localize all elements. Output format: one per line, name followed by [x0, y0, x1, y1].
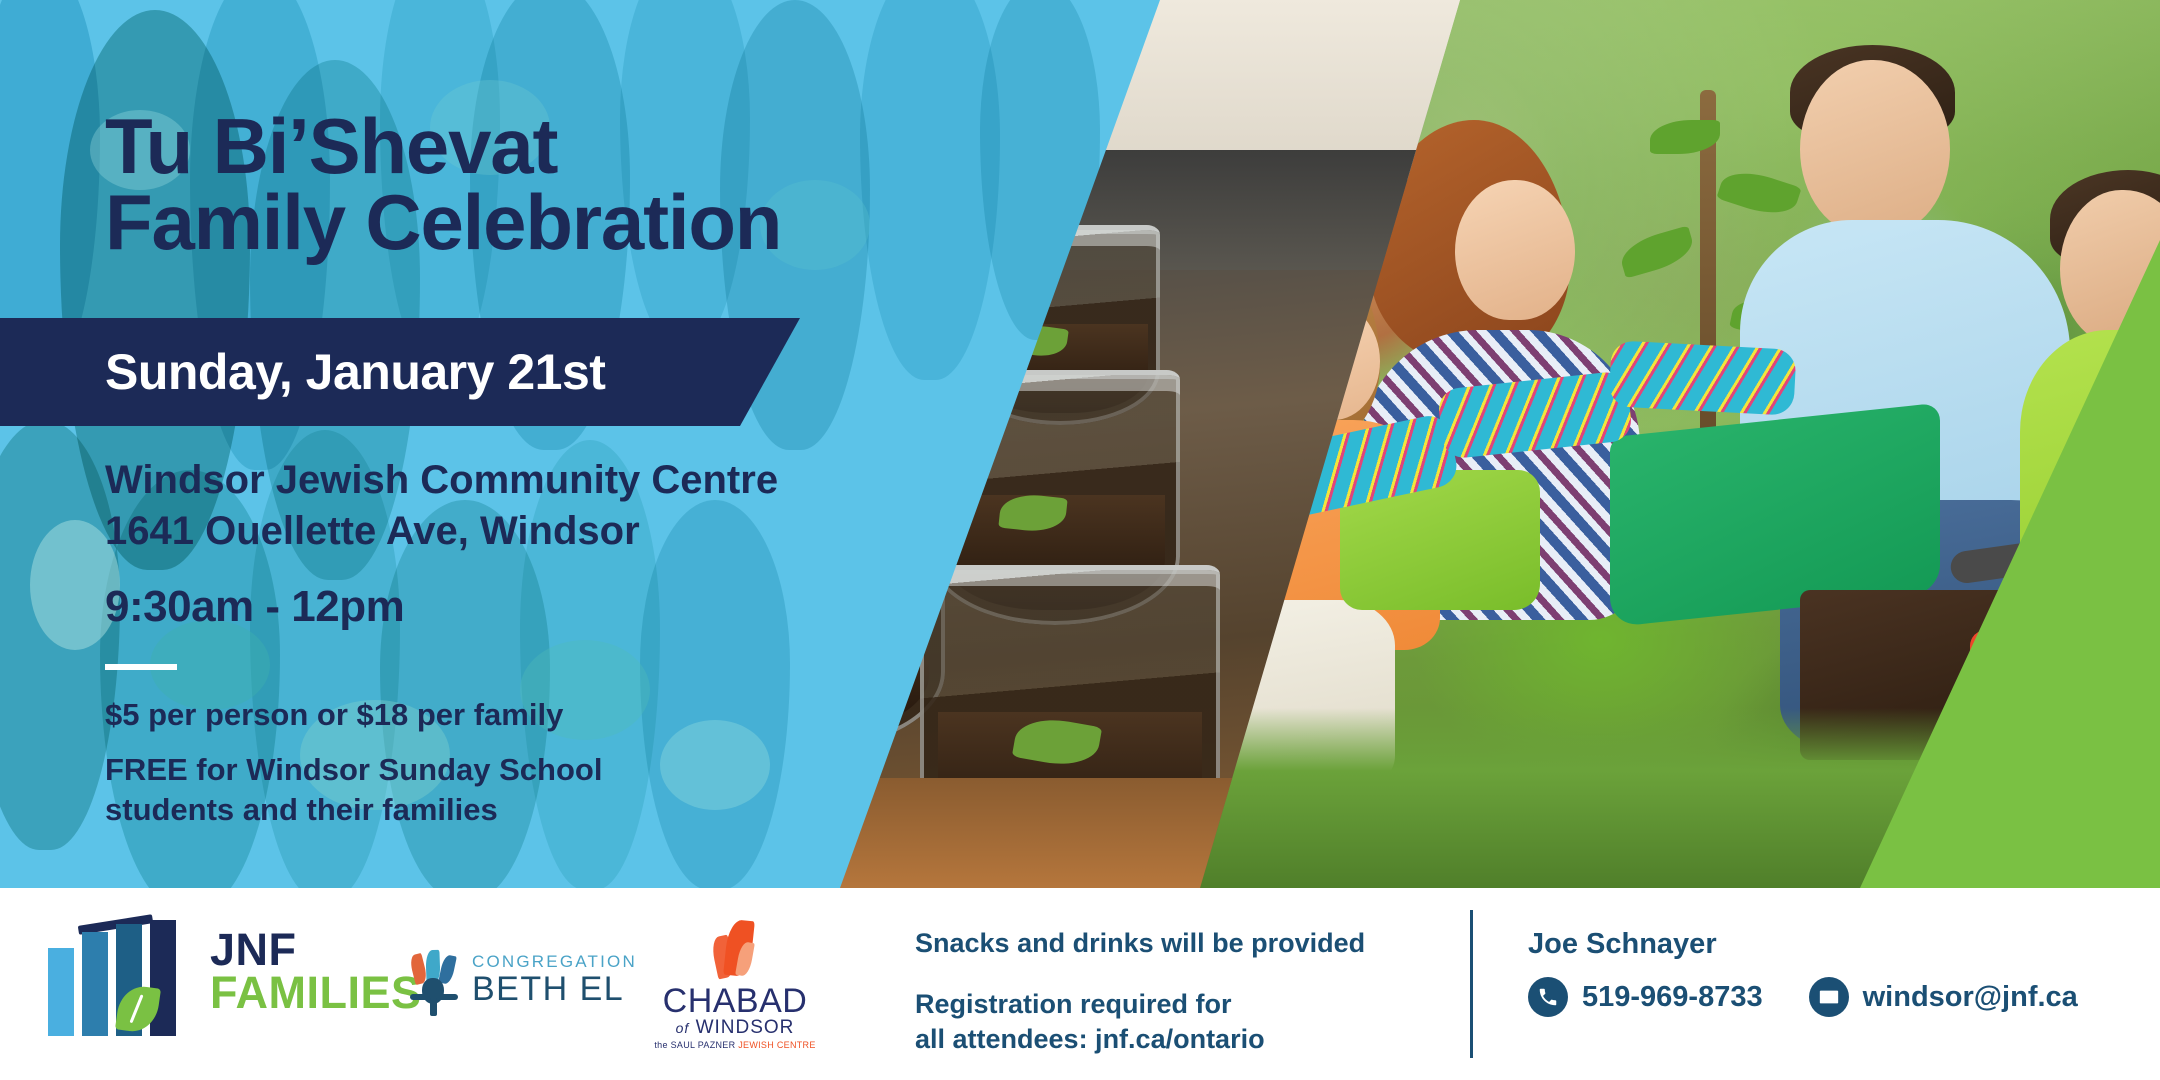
chabad-place-text: of WINDSOR	[640, 1017, 830, 1039]
registration-line-1: Registration required for	[915, 987, 1435, 1022]
date-banner: Sunday, January 21st	[0, 318, 800, 426]
title-line-2: Family Celebration	[105, 184, 865, 260]
beth-el-line-1: CONGREGATION	[472, 952, 637, 972]
snacks-note: Snacks and drinks will be provided	[915, 926, 1435, 961]
event-time: 9:30am - 12pm	[105, 582, 404, 632]
chabad-sub-name: SAUL PAZNER	[671, 1040, 736, 1050]
chabad-sub-centre: JEWISH CENTRE	[738, 1040, 815, 1050]
hero-section: Tu Bi’Shevat Family Celebration Sunday, …	[0, 0, 2160, 888]
event-date: Sunday, January 21st	[0, 343, 605, 401]
venue-address: 1641 Ouellette Ave, Windsor	[105, 506, 1005, 557]
event-info-block: Snacks and drinks will be provided Regis…	[915, 926, 1435, 1057]
jnf-bar-1	[48, 948, 74, 1036]
free-admission-note: FREE for Windsor Sunday School students …	[105, 750, 745, 829]
contact-email[interactable]: windsor@jnf.ca	[1863, 981, 2078, 1014]
jnf-primary-text: JNF	[210, 928, 422, 971]
chabad-of-word: of	[676, 1020, 690, 1036]
menorah-stem	[430, 998, 437, 1016]
registration-note: Registration required for all attendees:…	[915, 987, 1435, 1057]
chabad-flame-icon	[710, 920, 764, 982]
contact-block: Joe Schnayer 519-969-8733 windsor@jnf.ca	[1528, 928, 2128, 1017]
footer-vertical-divider	[1470, 910, 1473, 1058]
beth-el-wordmark: CONGREGATION BETH EL	[472, 952, 637, 1008]
beth-el-line-2: BETH EL	[472, 972, 637, 1008]
title-line-1: Tu Bi’Shevat	[105, 102, 557, 190]
phone-icon	[1528, 977, 1568, 1017]
registration-line-2: all attendees: jnf.ca/ontario	[915, 1022, 1435, 1057]
price-info: $5 per person or $18 per family	[105, 697, 563, 733]
footer-section: JNF FAMILIES CONGREGATION BETH EL	[0, 888, 2160, 1080]
free-note-line-2: students and their families	[105, 790, 745, 830]
congregation-beth-el-logo: CONGREGATION BETH EL	[408, 946, 648, 1024]
decorative-leaf	[860, 0, 1000, 380]
chabad-windsor-logo: CHABAD of WINDSOR the SAUL PAZNER JEWISH…	[640, 920, 830, 1048]
email-icon	[1809, 977, 1849, 1017]
decorative-leaf	[640, 500, 790, 888]
contact-phone[interactable]: 519-969-8733	[1582, 981, 1763, 1014]
jnf-bar-2	[82, 932, 108, 1036]
chabad-subtitle: the SAUL PAZNER JEWISH CENTRE	[640, 1040, 830, 1050]
striped-garden-glove	[1608, 340, 1796, 416]
divider-rule	[105, 664, 177, 670]
jnf-wordmark: JNF FAMILIES	[210, 928, 422, 1014]
chabad-city: WINDSOR	[696, 1017, 795, 1038]
contact-person-name: Joe Schnayer	[1528, 928, 2128, 961]
free-note-line-1: FREE for Windsor Sunday School	[105, 750, 745, 790]
page-title: Tu Bi’Shevat Family Celebration	[105, 108, 865, 261]
chabad-sub-the: the	[654, 1040, 667, 1050]
event-flyer: Tu Bi’Shevat Family Celebration Sunday, …	[0, 0, 2160, 1080]
mother-face	[1455, 180, 1575, 320]
venue-name: Windsor Jewish Community Centre	[105, 455, 1005, 506]
beth-el-flame-icon	[408, 950, 466, 1016]
venue-block: Windsor Jewish Community Centre 1641 Oue…	[105, 455, 1005, 557]
father-face	[1800, 60, 1950, 235]
flame-segment	[438, 954, 457, 985]
jnf-bars-mark	[48, 920, 198, 1036]
chabad-name-text: CHABAD	[640, 982, 830, 1021]
jnf-families-logo: JNF FAMILIES	[48, 910, 368, 1040]
contact-details-row: 519-969-8733 windsor@jnf.ca	[1528, 977, 2128, 1017]
jnf-secondary-text: FAMILIES	[210, 971, 422, 1014]
